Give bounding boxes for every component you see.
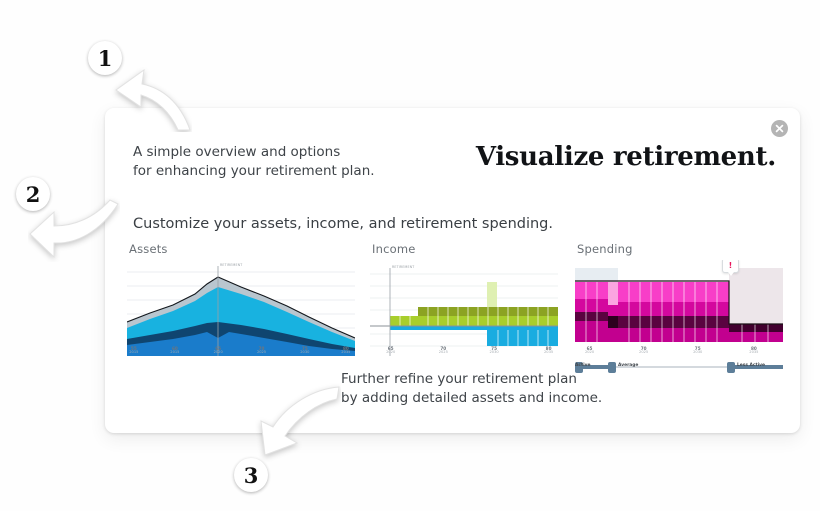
assets-tick: 80 2035: [341, 347, 350, 355]
slider-handle-average[interactable]: [608, 362, 616, 373]
overview-panel: A simple overview and options for enhanc…: [105, 108, 800, 433]
activity-level-slider[interactable]: Active Average Less Active: [575, 362, 783, 374]
tick-year: 2030: [693, 351, 702, 355]
income-retirement-label: RETIREMENT: [392, 265, 414, 269]
spending-band-dark: [575, 312, 608, 321]
slider-handle-lessactive[interactable]: [727, 362, 735, 373]
assets-tick: 60 2015: [170, 347, 179, 355]
chart-assets-plot[interactable]: RETIREMENT: [127, 260, 355, 356]
spending-notch-mid: [608, 305, 618, 316]
callout-3-arrow: [245, 383, 341, 463]
assets-tick: 65 2020: [214, 347, 223, 355]
spending-right-dark: [729, 324, 783, 332]
spending-tick: 70 2025: [639, 347, 648, 355]
footer-note: Further refine your retirement plan by a…: [341, 370, 602, 408]
tick-year: 2035: [749, 351, 758, 355]
warning-exclamation-icon[interactable]: !: [722, 260, 739, 273]
spending-band-light: [575, 282, 608, 299]
callout-2-badge: 2: [16, 177, 50, 211]
chart-spending-title: Spending: [577, 242, 783, 256]
tick-year: 2025: [257, 351, 266, 355]
income-spike: [487, 282, 497, 307]
spending-mid-light: [618, 282, 729, 302]
tick-year: 2020: [214, 351, 223, 355]
chart-spending-plot[interactable]: !: [575, 260, 783, 356]
customize-text: Customize your assets, income, and retir…: [133, 216, 553, 232]
chart-spending[interactable]: Spending: [575, 242, 783, 360]
spending-tick: 75 2030: [693, 347, 702, 355]
callout-3-badge: 3: [234, 458, 268, 492]
slider-label-average: Average: [618, 363, 638, 368]
income-tick: 65 2020: [386, 347, 395, 355]
tick-year: 2025: [639, 351, 648, 355]
income-axis: 65 2020 70 2025 75 2030 80 2035: [370, 347, 558, 360]
arrow-up-left-icon: [108, 62, 192, 132]
spending-right-deep: [729, 332, 783, 342]
income-bars-svg: [370, 260, 558, 356]
income-tick: 70 2025: [439, 347, 448, 355]
spending-notch-light: [608, 282, 618, 305]
close-x-glyph: [775, 124, 784, 133]
chart-assets[interactable]: Assets: [127, 242, 355, 360]
slider-label-active: Active: [575, 363, 590, 368]
spending-tick: 80 2035: [749, 347, 758, 355]
page-background: A simple overview and options for enhanc…: [0, 0, 820, 511]
chart-income-title: Income: [372, 242, 558, 256]
assets-retirement-label: RETIREMENT: [220, 263, 242, 267]
spending-band-mid: [575, 299, 608, 312]
intro-text: A simple overview and options for enhanc…: [133, 143, 375, 181]
tick-year: 2020: [585, 351, 594, 355]
callout-1-arrow: [108, 62, 192, 132]
page-title: Visualize retirement.: [476, 142, 776, 172]
slider-label-lessactive: Less Active: [737, 363, 765, 368]
tick-year: 2030: [300, 351, 309, 355]
charts-row: Assets: [127, 242, 782, 360]
assets-tick: 70 2025: [257, 347, 266, 355]
spending-tick: 65 2020: [585, 347, 594, 355]
tick-year: 2025: [439, 351, 448, 355]
assets-tick: 55 2015: [129, 347, 138, 355]
tick-year: 2015: [129, 351, 138, 355]
spending-bars-svg: [575, 260, 783, 356]
income-expense-thin: [390, 326, 487, 330]
callout-1-badge: 1: [88, 41, 122, 75]
spending-right-light: [729, 268, 783, 324]
assets-tick: 75 2030: [300, 347, 309, 355]
tick-year: 2020: [386, 351, 395, 355]
spending-mid-mid: [618, 302, 729, 316]
chart-income-plot[interactable]: RETIREMENT: [370, 260, 558, 356]
income-band-green-left: [390, 316, 418, 326]
spending-notch-dark: [608, 316, 618, 328]
income-tick: 80 2035: [544, 347, 553, 355]
assets-axis: 55 2015 60 2015 65 2020 70 2025: [127, 347, 355, 360]
tick-year: 2015: [170, 351, 179, 355]
spending-band-deep: [575, 321, 608, 342]
chart-assets-title: Assets: [129, 242, 355, 256]
tick-year: 2030: [490, 351, 499, 355]
tick-year: 2035: [544, 351, 553, 355]
chart-income[interactable]: Income: [370, 242, 558, 360]
spending-mid-deep: [618, 328, 729, 342]
spending-mid-dark: [618, 316, 729, 328]
tick-year: 2035: [341, 351, 350, 355]
income-tick: 75 2030: [490, 347, 499, 355]
close-icon[interactable]: [771, 120, 788, 137]
spending-notch-deep: [608, 328, 618, 342]
assets-area-svg: [127, 260, 355, 356]
spending-axis: 65 2020 70 2025 75 2030 80 2035: [575, 347, 783, 360]
arrow-down-left-icon: [245, 383, 341, 463]
